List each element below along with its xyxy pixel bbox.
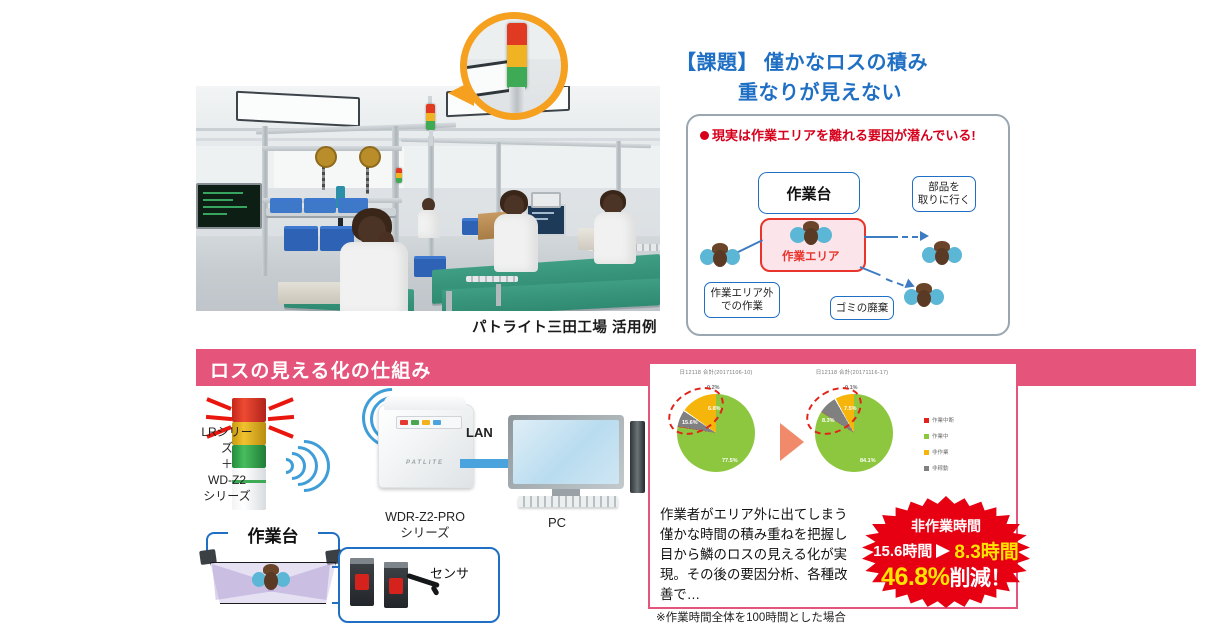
legend-label-1: 作業中 xyxy=(932,432,949,440)
signal-tower-zoom-callout xyxy=(460,12,568,120)
tower-flash-icon-right xyxy=(266,396,296,446)
worker-trash-icon xyxy=(904,282,944,310)
receiver-brand-label: PATLITE xyxy=(378,460,472,466)
worker-at-bench-icon xyxy=(252,564,290,594)
legend-item-0: 作業中断 xyxy=(924,412,954,428)
bubble-parts: 部品を 取りに行く xyxy=(912,176,976,212)
workbench-box: 作業台 xyxy=(758,172,860,214)
issue-diagram: 作業台 作業エリア 部品を 取りに行く xyxy=(686,114,1006,332)
bubble-parts-line2: 取りに行く xyxy=(918,194,971,207)
bubble-outside-line1: 作業エリア外 xyxy=(711,287,774,300)
pie-right-label-3: 84.1% xyxy=(860,458,876,464)
result-description: 作業者がエリア外に出てしまう僅かな時間の積み重ねを把握し目から鱗のロスの見える化… xyxy=(660,505,856,605)
sensor-devices-icon xyxy=(350,556,440,612)
bubble-outside: 作業エリア外 での作業 xyxy=(704,282,780,318)
lan-label: LAN xyxy=(466,425,493,440)
burst-after-value: 8.3時間 xyxy=(954,537,1018,564)
pie-left-title: 日12118 合計(20171106-10) xyxy=(656,368,776,376)
factory-floor-photo xyxy=(196,86,660,311)
infographic-canvas: パトライト三田工場 活用例 【課題】 僅かなロスの積み 重なりが見えない 現実は… xyxy=(0,0,1230,640)
pc-label: PC xyxy=(548,515,566,530)
bubble-parts-line1: 部品を xyxy=(928,181,960,194)
receiver-led-row xyxy=(396,416,462,429)
burst-title: 非作業時間 xyxy=(862,516,1030,536)
burst-comparison: 15.6時間 8.3時間 xyxy=(862,537,1030,564)
arrow-to-trash xyxy=(860,266,881,276)
burst-reduction-suffix: 削減！ xyxy=(949,567,1011,590)
tower-label-l1: LRシリーズ xyxy=(196,424,258,456)
burst-reduction-value: 46.8% xyxy=(881,563,949,591)
chart-legend: 作業中断 作業中 非作業 非稼動 xyxy=(924,412,954,476)
legend-item-1: 作業中 xyxy=(924,428,954,444)
tower-label-l4: シリーズ xyxy=(196,488,258,504)
keyboard-icon xyxy=(518,496,618,507)
worker-parts-icon xyxy=(922,240,962,268)
issue-title-line2: 重なりが見えない xyxy=(676,78,1026,108)
worker-outside-icon xyxy=(700,242,740,270)
pc-tower-icon xyxy=(630,421,645,493)
work-area-label: 作業エリア xyxy=(782,248,840,264)
legend-item-3: 非稼動 xyxy=(924,460,954,476)
burst-reduction: 46.8%削減！ xyxy=(862,562,1030,592)
legend-label-0: 作業中断 xyxy=(932,416,954,424)
wireless-receiver-device: PATLITE xyxy=(378,396,472,488)
pie-right-title: 日12118 合計(20171116-17) xyxy=(792,368,912,376)
tower-label: LRシリーズ ＋ WD-Z2 シリーズ xyxy=(196,424,258,504)
legend-label-2: 非作業 xyxy=(932,448,949,456)
bubble-outside-line2: での作業 xyxy=(721,300,763,313)
pc-device xyxy=(508,415,628,510)
tower-label-l2: ＋ xyxy=(196,456,258,472)
legend-label-3: 非稼動 xyxy=(932,464,949,472)
workbench-label: 作業台 xyxy=(228,522,318,547)
burst-before-value: 15.6時間 xyxy=(873,540,932,561)
bubble-trash: ゴミの廃棄 xyxy=(830,296,894,320)
arrow-to-parts xyxy=(864,236,898,238)
receiver-label-l1: WDR-Z2-PRO xyxy=(352,509,498,525)
transition-arrow-icon xyxy=(780,423,804,461)
pie-charts: 日12118 合計(20171106-10) 0.2% 6.8% 15.6% 7… xyxy=(656,368,1006,492)
tower-label-l3: WD-Z2 xyxy=(196,472,258,488)
issue-title: 【課題】 僅かなロスの積み 重なりが見えない xyxy=(676,48,1026,108)
pie-left-label-3: 77.5% xyxy=(722,458,738,464)
arrow-right-icon xyxy=(936,544,950,558)
worker-center-icon xyxy=(790,220,832,248)
wireless-signal-icon xyxy=(278,440,322,490)
legend-item-2: 非作業 xyxy=(924,444,954,460)
footnote: ※作業時間全体を100時間とした場合 xyxy=(656,609,846,625)
signal-tower-icon xyxy=(507,23,527,89)
reduction-starburst-badge: 非作業時間 15.6時間 8.3時間 46.8%削減！ xyxy=(862,496,1030,608)
system-section-title: ロスの見える化の仕組み xyxy=(210,356,432,383)
photo-caption: パトライト三田工場 活用例 xyxy=(472,316,657,337)
callout-image xyxy=(467,19,561,113)
issue-title-line1: 【課題】 僅かなロスの積み xyxy=(676,48,1026,78)
